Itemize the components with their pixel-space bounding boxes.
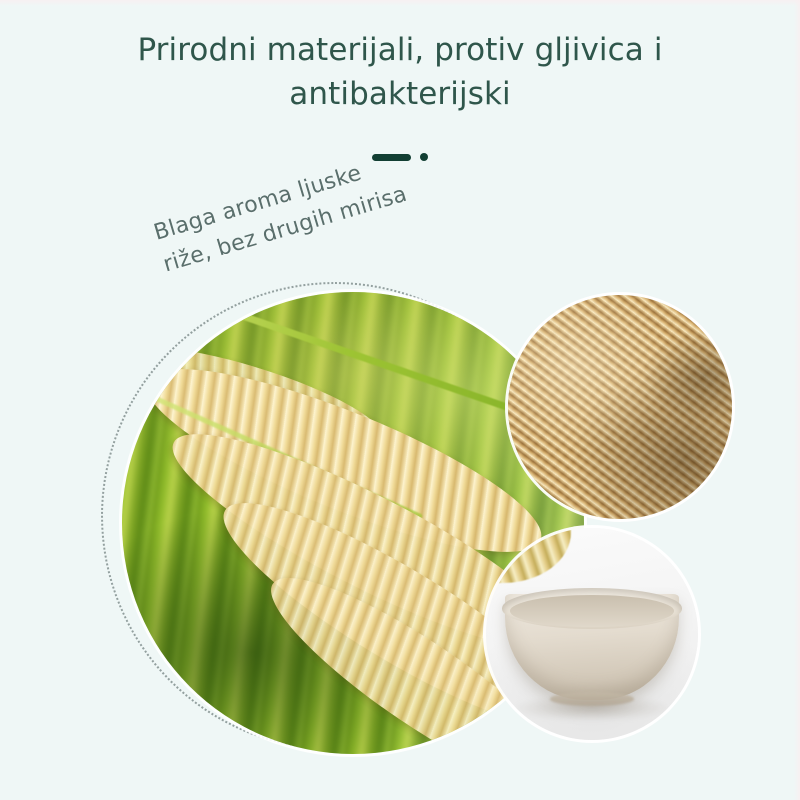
- rice-husk-bowl-photo: [486, 528, 698, 740]
- image-collage: [0, 0, 800, 800]
- product-feature-page: Prirodni materijali, protiv gljivica i a…: [0, 0, 800, 800]
- rice-husk-photo: [508, 295, 732, 519]
- bowl-interior: [510, 595, 673, 627]
- rice-husk-shading: [508, 295, 732, 519]
- bowl-foot: [550, 692, 635, 706]
